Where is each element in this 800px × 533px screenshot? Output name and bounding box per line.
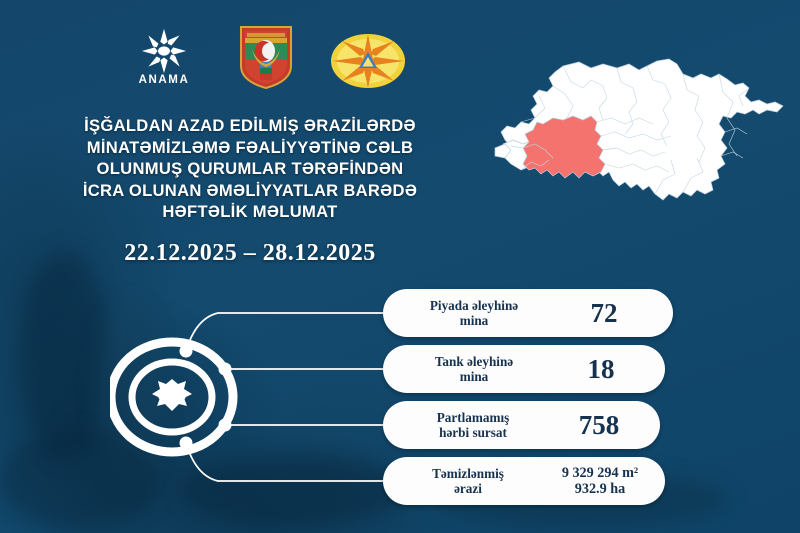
stat-card-uxo[interactable]: Partlamamış hərbi sursat 758 xyxy=(383,401,660,449)
stat-label-line-2: hərbi sursat xyxy=(397,425,549,441)
stat-label-line-2: ərazi xyxy=(395,481,541,497)
stat-label: Piyada əleyhinə mina xyxy=(399,298,549,329)
stat-label-line-2: mina xyxy=(399,369,549,385)
stat-value: 18 xyxy=(549,355,653,383)
stat-card-antitank-mines[interactable]: Tank əleyhinə mina 18 xyxy=(383,345,665,393)
stat-value-sqm: 9 329 294 m² xyxy=(541,465,659,482)
stat-label-line-1: Partlamamış xyxy=(397,410,549,426)
stat-card-cleared-area[interactable]: Təmizlənmiş ərazi 9 329 294 m² 932.9 ha xyxy=(383,457,665,505)
stat-label: Tank əleyhinə mina xyxy=(399,354,549,385)
stat-label-line-1: Piyada əleyhinə xyxy=(399,298,549,314)
stat-value: 9 329 294 m² 932.9 ha xyxy=(541,465,659,498)
stat-value: 758 xyxy=(549,411,649,439)
stat-value: 72 xyxy=(549,299,659,327)
stat-label-line-2: mina xyxy=(399,313,549,329)
stat-label-line-1: Təmizlənmiş xyxy=(395,466,541,482)
infographic-poster: ANAMA xyxy=(0,0,800,533)
stat-label: Təmizlənmiş ərazi xyxy=(395,466,541,497)
stat-card-antipersonnel-mines[interactable]: Piyada əleyhinə mina 72 xyxy=(383,289,673,337)
stat-label: Partlamamış hərbi sursat xyxy=(397,410,549,441)
stat-value-ha: 932.9 ha xyxy=(541,481,659,498)
stat-label-line-1: Tank əleyhinə xyxy=(399,354,549,370)
stat-card-list: Piyada əleyhinə mina 72 Tank əleyhinə mi… xyxy=(0,0,800,533)
